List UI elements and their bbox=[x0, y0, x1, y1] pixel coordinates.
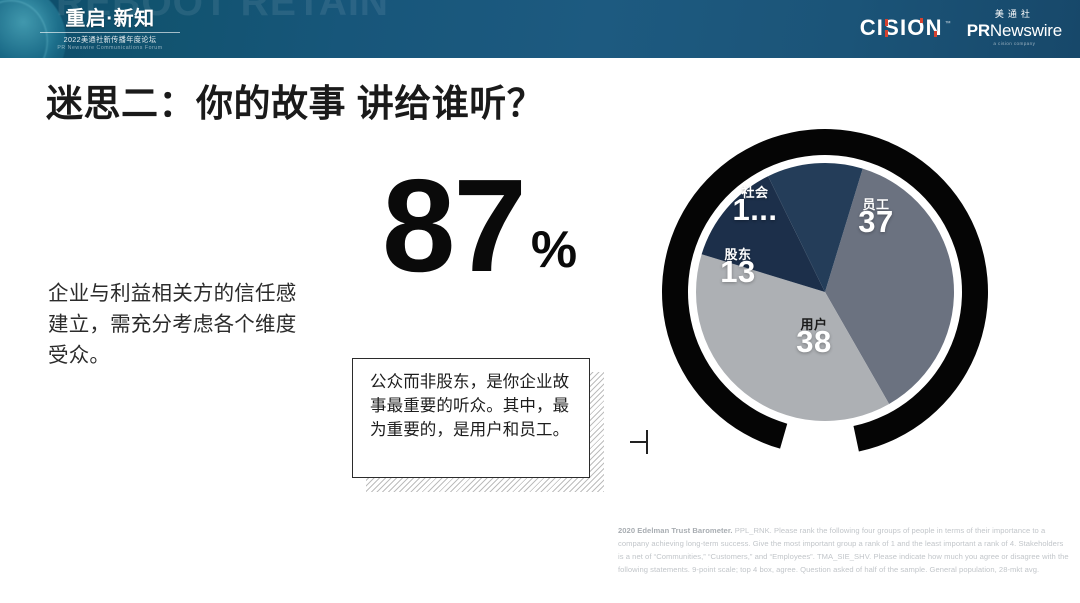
pr-newswire-logo: 美通社 PRNewswire a cision company bbox=[967, 10, 1062, 47]
callout-text: 公众而非股东，是你企业故事最重要的听众。其中，最为重要的，是用户和员工。 bbox=[370, 370, 574, 442]
forum-logo-divider bbox=[40, 32, 180, 33]
bracket-marker-icon bbox=[630, 430, 648, 454]
cision-logo: CISION ™ bbox=[860, 17, 951, 39]
callout-card: 公众而非股东，是你企业故事最重要的听众。其中，最为重要的，是用户和员工。 bbox=[352, 358, 590, 478]
cision-trademark-icon: ™ bbox=[945, 21, 951, 27]
pr-newswire-name-en: PRNewswire bbox=[967, 22, 1062, 39]
stakeholder-pie-chart: 员工 37 用户 38 股东 13 社会 1... bbox=[655, 122, 995, 462]
forum-logo-title: 重启·新知 bbox=[36, 8, 184, 30]
pr-newswire-newswire: Newswire bbox=[990, 21, 1062, 40]
callout-box: 公众而非股东，是你企业故事最重要的听众。其中，最为重要的，是用户和员工。 bbox=[352, 358, 590, 478]
pr-newswire-tagline: a cision company bbox=[967, 42, 1062, 47]
cision-accent-mark-icon bbox=[885, 30, 888, 37]
footnote-source: 2020 Edelman Trust Barometer. bbox=[618, 526, 733, 535]
cision-accent-mark-icon bbox=[885, 19, 888, 26]
body-paragraph: 企业与利益相关方的信任感建立，需充分考虑各个维度受众。 bbox=[48, 278, 298, 371]
pr-newswire-pr: PR bbox=[967, 21, 990, 40]
cision-accent-mark-icon bbox=[920, 18, 923, 23]
slide-root: REBOOT RETAIN 重启·新知 2022美通社新传播年度论坛 PR Ne… bbox=[0, 0, 1080, 603]
forum-logo-subtitle-cn: 2022美通社新传播年度论坛 bbox=[36, 35, 184, 44]
pie-chart-svg bbox=[655, 122, 995, 462]
headline-statistic: 87 % bbox=[382, 172, 577, 280]
cision-accent-mark-icon bbox=[934, 31, 937, 37]
pie-slices-group bbox=[696, 163, 954, 421]
pr-newswire-name-cn: 美通社 bbox=[967, 10, 1062, 19]
header-banner: REBOOT RETAIN 重启·新知 2022美通社新传播年度论坛 PR Ne… bbox=[0, 0, 1080, 58]
page-title: 迷思二：你的故事 讲给谁听？ bbox=[46, 73, 544, 127]
brand-logos: CISION ™ 美通社 PRNewswire a cision company bbox=[860, 10, 1062, 47]
cision-wordmark: CISION bbox=[860, 17, 943, 39]
footnote: 2020 Edelman Trust Barometer. PPL_RNK. P… bbox=[618, 524, 1070, 576]
statistic-value: 87 bbox=[382, 172, 525, 280]
forum-logo: 重启·新知 2022美通社新传播年度论坛 PR Newswire Communi… bbox=[36, 8, 184, 52]
forum-logo-subtitle-en: PR Newswire Communications Forum bbox=[36, 45, 184, 52]
statistic-unit: % bbox=[531, 224, 577, 276]
